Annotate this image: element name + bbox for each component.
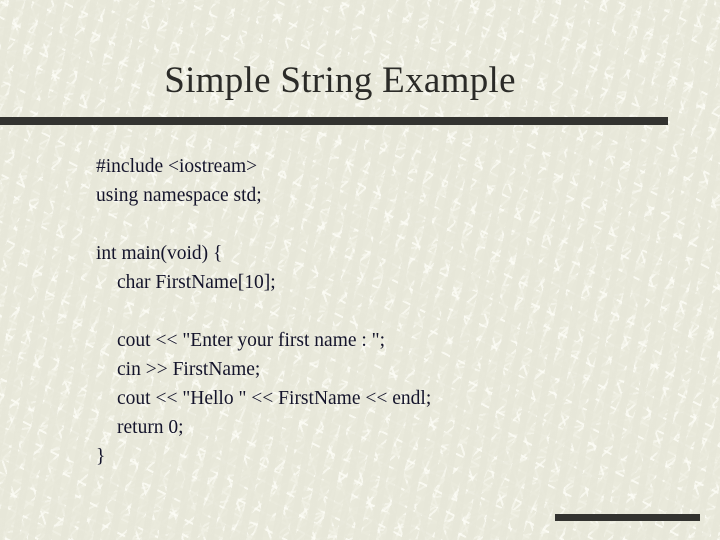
code-line: using namespace std; [96, 181, 676, 210]
code-line: return 0; [96, 413, 676, 442]
footer-decoration-rule [555, 514, 700, 521]
code-line: char FirstName[10]; [96, 268, 676, 297]
slide-title: Simple String Example [0, 58, 680, 104]
code-line-blank [96, 210, 676, 239]
code-line: cout << "Enter your first name : "; [96, 326, 676, 355]
code-block: #include <iostream>using namespace std;i… [96, 152, 676, 471]
slide-canvas: Simple String Example #include <iostream… [0, 0, 720, 540]
code-line-blank [96, 297, 676, 326]
code-line: int main(void) { [96, 239, 676, 268]
code-line: } [96, 442, 676, 471]
code-line: cin >> FirstName; [96, 355, 676, 384]
code-line: #include <iostream> [96, 152, 676, 181]
code-line: cout << "Hello " << FirstName << endl; [96, 384, 676, 413]
title-divider-rule [0, 117, 668, 125]
